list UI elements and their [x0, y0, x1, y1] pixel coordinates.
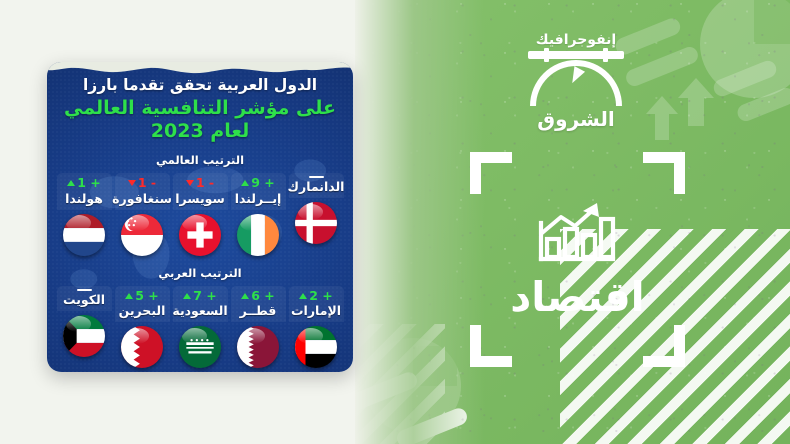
- delta-value: 7 +: [193, 289, 217, 303]
- country-name: إيــرلندا: [235, 191, 282, 206]
- delta-indicator: 7 +: [183, 289, 217, 303]
- ranking-cell-bahrain[interactable]: 5 + البحرين: [115, 286, 170, 369]
- ranking-cell-box: 2 + الإمارات: [289, 286, 344, 323]
- triangle-up-icon: [67, 180, 75, 186]
- ranking-cell-ireland[interactable]: 9 + إيــرلندا: [231, 173, 286, 256]
- logo-rule-icon: [528, 51, 624, 59]
- infographic-title-line1: الدول العربية تحقق تقدما بارزا: [57, 76, 343, 95]
- triangle-up-icon: [241, 293, 249, 299]
- category-label: اقتصاد: [510, 277, 644, 318]
- delta-value: 5 +: [135, 289, 159, 303]
- ranking-cell-box: 1 - سنغافورة: [115, 173, 170, 210]
- green-left-fade: [355, 0, 485, 444]
- delta-value: 2 +: [309, 289, 333, 303]
- delta-indicator: 1 +: [67, 176, 101, 190]
- country-name: الكويت: [63, 292, 105, 307]
- ranking-cell-box: 7 + السعودية: [173, 286, 228, 323]
- section-heading-arab: الترتيب العربي: [57, 266, 343, 280]
- delta-indicator: 1 -: [128, 176, 156, 190]
- country-name: الدانمارك: [288, 179, 345, 194]
- ranking-cell-saudi[interactable]: 7 + السعودية: [173, 286, 228, 369]
- dash-icon: [77, 289, 92, 292]
- delta-value: 6 +: [251, 289, 275, 303]
- ranking-cell-uae[interactable]: 2 + الإمارات: [289, 286, 344, 369]
- ranking-cell-box: 9 + إيــرلندا: [231, 173, 286, 210]
- flag-denmark: [295, 202, 337, 244]
- triangle-up-icon: [299, 293, 307, 299]
- delta-value: 1 -: [138, 176, 156, 190]
- country-name: سنغافورة: [112, 191, 172, 206]
- flag-qatar: [237, 326, 279, 368]
- section-heading-global: الترتيب العالمي: [57, 153, 343, 167]
- triangle-down-icon: [128, 180, 136, 186]
- delta-value: 1 +: [77, 176, 101, 190]
- ranking-row-arab: 2 + الإمارات 6 + قطــر: [57, 286, 343, 369]
- delta-indicator: 6 +: [241, 289, 275, 303]
- infographic-card: الدول العربية تحقق تقدما بارزا على مؤشر …: [47, 62, 353, 372]
- triangle-up-icon: [241, 180, 249, 186]
- flag-ireland: [237, 214, 279, 256]
- country-name: هولندا: [65, 191, 103, 206]
- ranking-row-global: الدانمارك 9 + إيــرلندا: [57, 173, 343, 256]
- category-content: اقتصاد: [482, 164, 673, 355]
- ranking-cell-box: الدانمارك: [289, 173, 344, 199]
- flag-saudi: [179, 326, 221, 368]
- delta-value: 9 +: [251, 176, 275, 190]
- country-name: قطــر: [240, 303, 277, 318]
- ranking-cell-qatar[interactable]: 6 + قطــر: [231, 286, 286, 369]
- category-frame[interactable]: اقتصاد: [470, 152, 685, 367]
- logo-top-text: إنفوجرافيك: [520, 32, 632, 48]
- ranking-cell-kuwait[interactable]: الكويت: [57, 286, 112, 358]
- ranking-cell-switzerland[interactable]: 1 - سويسرا: [173, 173, 228, 256]
- triangle-up-icon: [125, 293, 133, 299]
- flag-kuwait: [63, 315, 105, 357]
- delta-value: 1 -: [196, 176, 214, 190]
- flag-switzerland: [179, 214, 221, 256]
- country-name: البحرين: [119, 303, 166, 318]
- ranking-cell-box: 1 + هولندا: [57, 173, 112, 210]
- ranking-cell-netherlands[interactable]: 1 + هولندا: [57, 173, 112, 256]
- ranking-cell-denmark[interactable]: الدانمارك: [289, 173, 344, 245]
- country-name: الإمارات: [291, 303, 341, 318]
- flag-netherlands: [63, 214, 105, 256]
- triangle-up-icon: [183, 293, 191, 299]
- infographic-title-line2: على مؤشر التنافسية العالمي لعام 2023: [57, 97, 343, 143]
- flag-uae: [295, 326, 337, 368]
- ranking-cell-box: 1 - سويسرا: [173, 173, 228, 210]
- alshorouk-infographic-logo[interactable]: إنفوجرافيك الشروق: [520, 32, 632, 127]
- flag-singapore: [121, 214, 163, 256]
- delta-indicator: 5 +: [125, 289, 159, 303]
- flag-bahrain: [121, 326, 163, 368]
- delta-indicator: 9 +: [241, 176, 275, 190]
- logo-arc-icon: [530, 60, 622, 106]
- bar-chart-growth-icon: [535, 201, 621, 263]
- country-name: سويسرا: [175, 191, 225, 206]
- logo-bottom-text: الشروق: [520, 107, 632, 131]
- ranking-cell-box: الكويت: [57, 286, 112, 312]
- dash-icon: [309, 176, 324, 179]
- delta-indicator: [77, 289, 92, 292]
- infographic-screenshot: إنفوجرافيك الشروق: [0, 0, 790, 444]
- ranking-cell-singapore[interactable]: 1 - سنغافورة: [115, 173, 170, 256]
- country-name: السعودية: [172, 303, 227, 318]
- ranking-cell-box: 5 + البحرين: [115, 286, 170, 323]
- delta-indicator: [309, 176, 324, 179]
- card-content: الدول العربية تحقق تقدما بارزا على مؤشر …: [47, 62, 353, 372]
- logo-needle-icon: [567, 66, 585, 86]
- delta-indicator: 2 +: [299, 289, 333, 303]
- ranking-cell-box: 6 + قطــر: [231, 286, 286, 323]
- delta-indicator: 1 -: [186, 176, 214, 190]
- triangle-down-icon: [186, 180, 194, 186]
